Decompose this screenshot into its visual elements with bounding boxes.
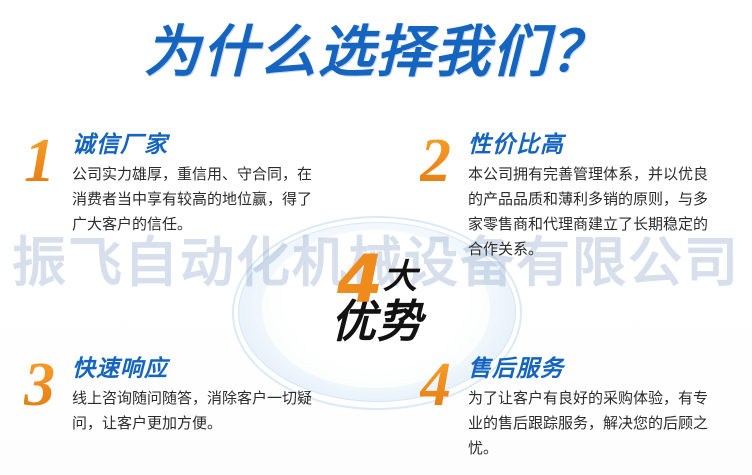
- feature-number-4: 4: [420, 354, 468, 416]
- feature-body-2: 性价比高 本公司拥有完善管理体系，并以优良 的产品品质和薄利多销的原则，与多 家…: [468, 128, 742, 262]
- feature-text-line: 本公司拥有完善管理体系，并以优良: [468, 162, 742, 187]
- feature-text-2: 本公司拥有完善管理体系，并以优良 的产品品质和薄利多销的原则，与多 家零售商和代…: [468, 162, 742, 262]
- badge-number: 4: [337, 241, 381, 318]
- feature-text-line: 家零售商和代理商建立了长期稳定的: [468, 212, 742, 237]
- feature-heading-4: 售后服务: [468, 356, 742, 383]
- feature-text-line: 的产品品质和薄利多销的原则，与多: [468, 187, 742, 212]
- feature-block-3: 3 快速响应 线上咨询随问随答，消除客户一切疑 问，让客户更加方便。: [24, 352, 384, 436]
- feature-text-line: 线上咨询随问随答，消除客户一切疑: [72, 386, 384, 411]
- center-badge: 4大 优势: [268, 244, 486, 360]
- feature-block-4: 4 售后服务 为了让客户有良好的采购体验，有专 业的售后跟踪服务，解决您的后顾之…: [420, 352, 742, 461]
- feature-text-line: 业的售后跟踪服务，解决您的后顾之: [468, 411, 742, 436]
- badge-top-row: 4大: [268, 244, 486, 302]
- feature-body-1: 诚信厂家 公司实力雄厚，重信用、守合同，在 消费者当中享有较高的地位赢，得了 广…: [72, 128, 384, 237]
- feature-text-line: 为了让客户有良好的采购体验，有专: [468, 386, 742, 411]
- feature-text-1: 公司实力雄厚，重信用、守合同，在 消费者当中享有较高的地位赢，得了 广大客户的信…: [72, 162, 384, 237]
- feature-text-line: 忧。: [468, 436, 742, 461]
- feature-text-line: 广大客户的信任。: [72, 212, 384, 237]
- feature-text-line: 问，让客户更加方便。: [72, 411, 384, 436]
- feature-text-3: 线上咨询随问随答，消除客户一切疑 问，让客户更加方便。: [72, 386, 384, 436]
- feature-number-1: 1: [24, 130, 72, 192]
- feature-number-3: 3: [24, 354, 72, 416]
- feature-text-4: 为了让客户有良好的采购体验，有专 业的售后跟踪服务，解决您的后顾之 忧。: [468, 386, 742, 461]
- promo-poster: 振飞自动化机械设备有限公司 为什么选择我们？ 1 诚信厂家 公司实力雄厚，重信用…: [0, 0, 752, 475]
- feature-text-line: 公司实力雄厚，重信用、守合同，在: [72, 162, 384, 187]
- badge-unit: 大: [383, 257, 417, 297]
- feature-body-3: 快速响应 线上咨询随问随答，消除客户一切疑 问，让客户更加方便。: [72, 352, 384, 436]
- feature-body-4: 售后服务 为了让客户有良好的采购体验，有专 业的售后跟踪服务，解决您的后顾之 忧…: [468, 352, 742, 461]
- feature-text-line: 消费者当中享有较高的地位赢，得了: [72, 187, 384, 212]
- feature-heading-2: 性价比高: [468, 132, 742, 159]
- feature-text-line: 合作关系。: [468, 237, 742, 262]
- feature-block-1: 1 诚信厂家 公司实力雄厚，重信用、守合同，在 消费者当中享有较高的地位赢，得了…: [24, 128, 384, 237]
- page-title: 为什么选择我们？: [0, 22, 752, 84]
- feature-heading-3: 快速响应: [72, 356, 384, 383]
- feature-heading-1: 诚信厂家: [72, 132, 384, 159]
- feature-number-2: 2: [420, 130, 468, 192]
- feature-block-2: 2 性价比高 本公司拥有完善管理体系，并以优良 的产品品质和薄利多销的原则，与多…: [420, 128, 742, 262]
